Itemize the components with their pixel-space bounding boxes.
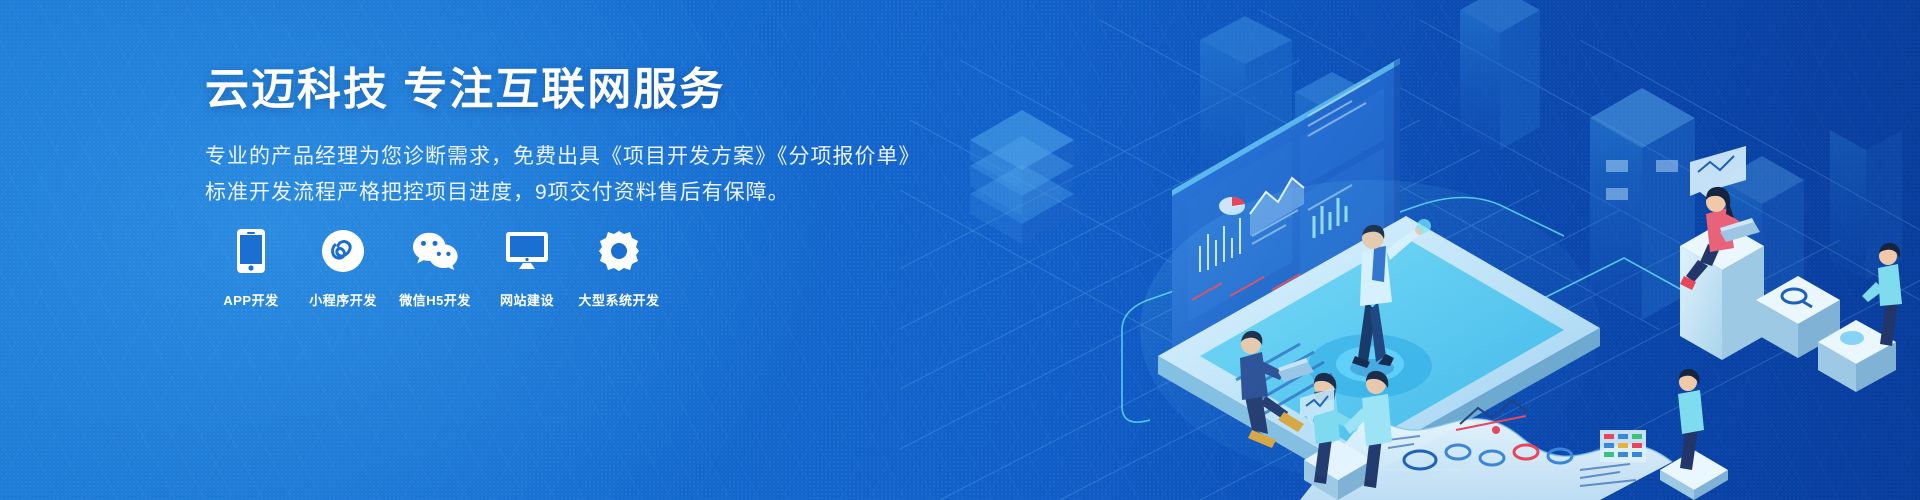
isometric-illustration (900, 0, 1920, 500)
service-label: 小程序开发 (309, 290, 377, 309)
service-label: APP开发 (223, 290, 278, 309)
hero-copy-block: 云迈科技 专注互联网服务 专业的产品经理为您诊断需求，免费出具《项目开发方案》《… (205, 62, 965, 211)
service-item-large-system[interactable]: 大型系统开发 (573, 228, 665, 309)
wechat-icon (412, 228, 458, 274)
service-item-app[interactable]: APP开发 (205, 228, 297, 309)
mini-program-icon (320, 228, 366, 274)
service-item-wechat-h5[interactable]: 微信H5开发 (389, 228, 481, 309)
monitor-icon (504, 228, 550, 274)
service-label: 大型系统开发 (578, 290, 659, 309)
service-list: APP开发 小程序开发 微信 (205, 228, 665, 309)
subtitle-line-2: 标准开发流程严格把控项目进度，9项交付资料售后有保障。 (205, 175, 965, 211)
service-item-mini-program[interactable]: 小程序开发 (297, 228, 389, 309)
service-label: 网站建设 (500, 290, 554, 309)
mobile-phone-icon (228, 228, 274, 274)
gear-icon (596, 228, 642, 274)
page-title: 云迈科技 专注互联网服务 (205, 62, 965, 117)
service-item-website[interactable]: 网站建设 (481, 228, 573, 309)
hero-banner: 云迈科技 专注互联网服务 专业的产品经理为您诊断需求，免费出具《项目开发方案》《… (0, 0, 1920, 500)
subtitle-line-1: 专业的产品经理为您诊断需求，免费出具《项目开发方案》《分项报价单》 (205, 139, 965, 175)
service-label: 微信H5开发 (399, 290, 471, 309)
hero-subtitle: 专业的产品经理为您诊断需求，免费出具《项目开发方案》《分项报价单》 标准开发流程… (205, 139, 965, 211)
bottom-right-person (1660, 369, 1728, 500)
